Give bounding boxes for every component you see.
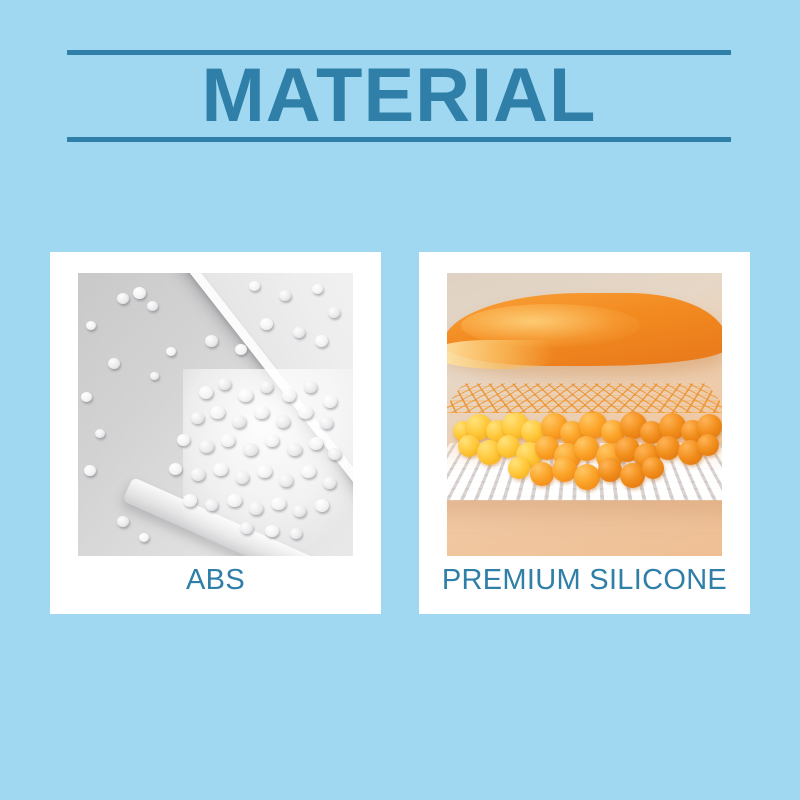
pellet	[86, 321, 96, 330]
pellet	[323, 477, 336, 489]
pellet	[166, 347, 176, 356]
material-card-group: ABS	[0, 252, 800, 614]
sphere	[697, 434, 719, 456]
pellet	[298, 406, 313, 419]
pellet	[279, 290, 291, 301]
sphere	[642, 457, 664, 479]
pellet	[293, 505, 306, 517]
pellet	[290, 528, 302, 539]
pellet	[84, 465, 96, 476]
sphere	[530, 462, 554, 486]
pellet	[254, 406, 269, 419]
pellet	[117, 293, 129, 304]
abs-scene	[78, 273, 353, 556]
pellet	[232, 415, 246, 428]
pellet	[249, 502, 263, 515]
pellet	[133, 287, 146, 299]
pellet	[282, 389, 296, 402]
pellet	[147, 301, 158, 311]
sphere	[552, 457, 577, 482]
material-poster: MATERIAL	[0, 0, 800, 800]
pellet	[213, 463, 228, 476]
card-caption-silicone: PREMIUM SILICONE	[419, 564, 750, 597]
pellet	[199, 440, 214, 453]
pellet	[235, 344, 247, 355]
pellet	[293, 327, 305, 338]
pellet	[95, 429, 105, 438]
pellet	[238, 389, 253, 402]
page-title: MATERIAL	[67, 54, 731, 137]
silicone-sheet-tail	[447, 340, 554, 369]
pellet	[210, 406, 225, 419]
pellet	[205, 499, 218, 511]
pellet	[260, 381, 273, 393]
pellet	[315, 335, 328, 347]
pellet	[323, 395, 337, 408]
pellet	[279, 474, 293, 487]
pellet	[139, 533, 149, 542]
pellet	[227, 494, 242, 507]
silicone-layers-illustration	[447, 273, 722, 556]
pellet	[218, 378, 231, 390]
material-card-abs[interactable]: ABS	[50, 252, 381, 614]
header-rule-bottom	[67, 137, 731, 142]
pellet	[191, 412, 204, 424]
pellet	[150, 372, 159, 380]
pellet	[276, 415, 290, 428]
card-caption-abs: ABS	[50, 564, 381, 597]
sphere	[574, 436, 599, 461]
sphere	[656, 436, 680, 460]
pellet	[315, 499, 329, 512]
pellet	[243, 443, 258, 456]
silicone-scene	[447, 273, 722, 556]
pellet	[260, 318, 273, 330]
pellet	[235, 471, 249, 484]
pellet	[117, 516, 129, 527]
hex-mesh-layer	[447, 384, 722, 413]
sphere	[598, 458, 622, 482]
pellet	[191, 468, 205, 481]
pellet	[169, 463, 182, 475]
pellet	[81, 392, 92, 402]
sphere	[508, 457, 530, 479]
abs-pellets-photo	[78, 273, 353, 556]
pellet	[271, 497, 286, 510]
pellet	[183, 494, 197, 507]
page-header: MATERIAL	[67, 50, 731, 142]
sphere	[574, 464, 600, 490]
pellet	[108, 358, 120, 369]
material-card-silicone[interactable]: PREMIUM SILICONE	[419, 252, 750, 614]
pellet	[205, 335, 218, 347]
pellet	[265, 525, 279, 537]
pellet	[287, 443, 302, 456]
silicone-sheet-layer	[447, 287, 722, 383]
pellet	[304, 381, 317, 393]
